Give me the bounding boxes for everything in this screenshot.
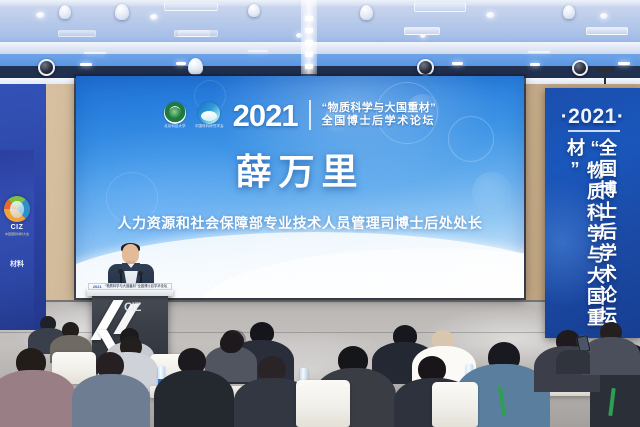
led-strip-light (248, 50, 268, 52)
dome-speaker-icon (563, 5, 575, 19)
air-vent-grille (404, 27, 440, 35)
light-stand-head (596, 67, 614, 72)
conference-photo-scene: CIZ 中国国际材料大会 材料 北京科技大学 中国材料研究学会 2021 “物质… (0, 0, 640, 427)
ceiling-center-column (301, 0, 317, 84)
dome-speaker-icon (248, 4, 260, 17)
chair-back (432, 382, 478, 427)
led-strip-light (530, 63, 540, 66)
dome-speaker-icon (115, 4, 129, 20)
air-vent-grille (174, 30, 218, 37)
recessed-spotlight-icon (36, 12, 45, 18)
right-banner-year: ·2021· (545, 106, 640, 128)
led-strip-light (528, 51, 550, 53)
left-banner-bottom-text: 材料 (2, 260, 32, 269)
photographer-arm (556, 350, 590, 374)
recessed-spotlight-icon (486, 12, 495, 18)
recessed-spotlight-icon (600, 13, 608, 19)
air-vent-grille (414, 2, 466, 12)
attendee-shoulders (0, 370, 76, 427)
led-strip-light (452, 62, 463, 65)
air-vent-grille (164, 2, 218, 11)
air-vent-grille (586, 27, 628, 35)
dome-speaker-icon (188, 58, 203, 75)
right-banner: ·2021· “物质科学与大国重材” 全国博士后学术论坛 (545, 88, 640, 338)
left-banner-logo-text: CIZ (4, 224, 30, 232)
dome-speaker-icon (59, 5, 71, 19)
recessed-spotlight-icon (150, 14, 158, 20)
ceiling-lower-panel (0, 54, 640, 66)
ceiling (0, 0, 640, 66)
right-banner-column-right: 全国博士后学术论坛 (597, 138, 617, 327)
microphone-head-icon (118, 269, 123, 274)
podium-title-band: 2021 “物质科学与大国重材”全国博士后学术论坛 (88, 283, 172, 290)
led-strip-light (84, 52, 106, 54)
attendee-shoulders (72, 374, 150, 427)
ciz-circle-logo-icon (4, 196, 30, 222)
dome-speaker-icon (360, 5, 373, 20)
led-strip-light (80, 63, 92, 66)
podium-band-text: “物质科学与大国重材”全国博士后学术论坛 (105, 285, 168, 288)
right-banner-divider (568, 130, 620, 132)
left-banner: CIZ 中国国际材料大会 材料 (0, 150, 34, 330)
podium-band-year: 2021 (93, 285, 102, 289)
attendee-shoulders (154, 370, 234, 427)
ceiling-speaker-icon (572, 60, 588, 76)
ceiling-band (0, 0, 640, 6)
attendee-shoulders (582, 337, 640, 375)
chair-back (296, 380, 350, 427)
left-banner-logo-subtext: 中国国际材料大会 (2, 232, 32, 236)
podium-emblem-text: CIZ (124, 300, 140, 314)
attendee-head (220, 333, 242, 353)
ceiling-speaker-icon (38, 59, 55, 76)
microphone-head-icon (138, 271, 143, 276)
air-vent-grille (58, 30, 96, 37)
led-strip-light (618, 62, 630, 65)
led-strip-light (176, 62, 186, 65)
